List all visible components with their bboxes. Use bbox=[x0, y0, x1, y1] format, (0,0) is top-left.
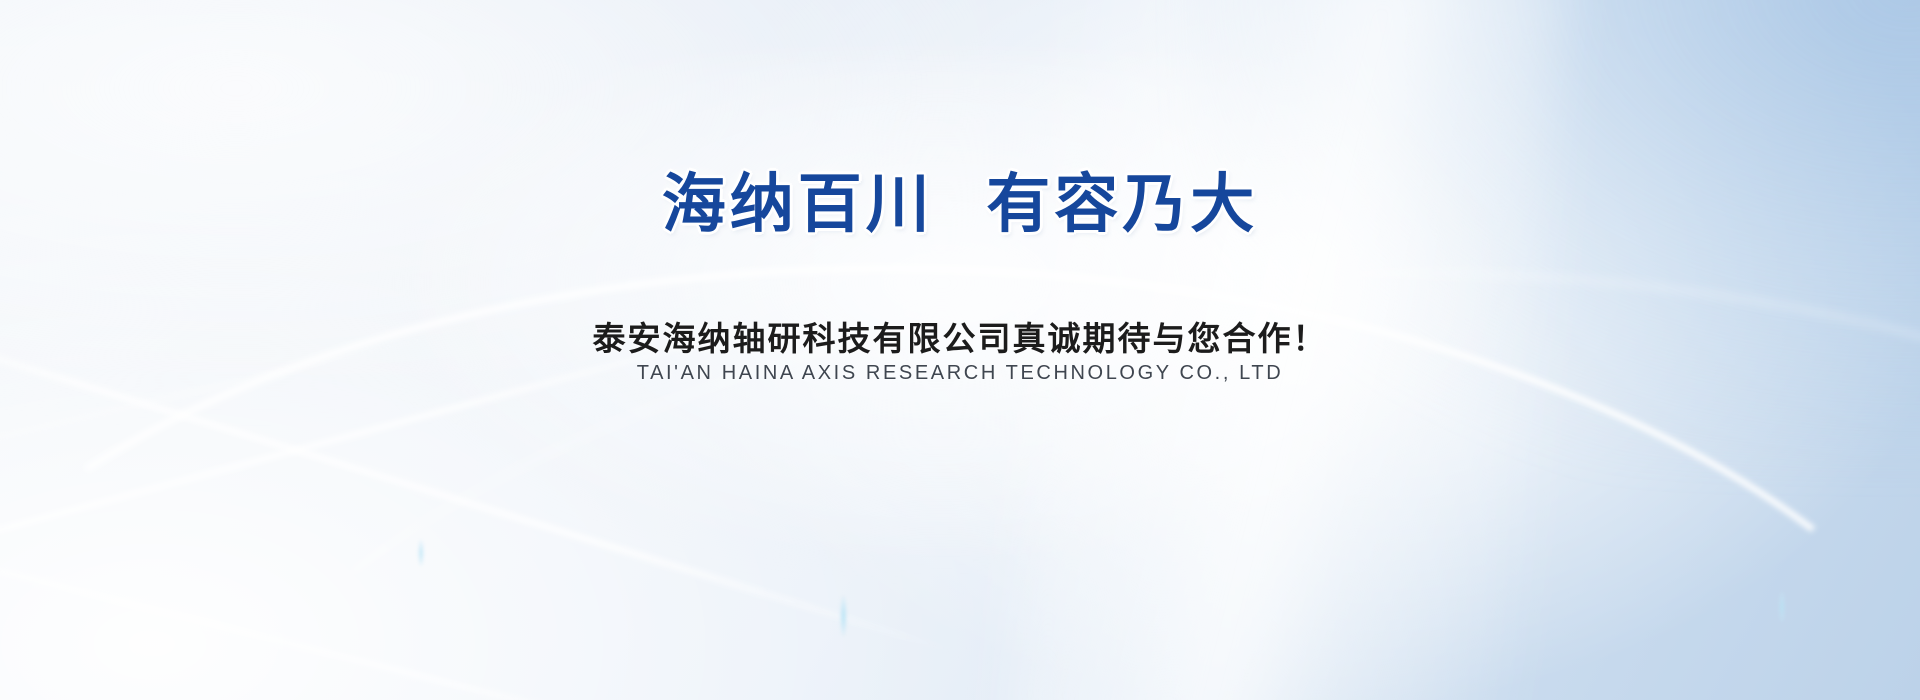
banner-subtitle-english: TAI'AN HAINA AXIS RESEARCH TECHNOLOGY CO… bbox=[0, 362, 1920, 385]
banner-content: 海纳百川 有容乃大 泰安海纳轴研科技有限公司真诚期待与您合作！ TAI'AN H… bbox=[0, 0, 1920, 700]
hero-banner: 海纳百川 有容乃大 泰安海纳轴研科技有限公司真诚期待与您合作！ TAI'AN H… bbox=[0, 0, 1920, 700]
banner-headline: 海纳百川 有容乃大 bbox=[0, 168, 1920, 244]
banner-subtitle-chinese: 泰安海纳轴研科技有限公司真诚期待与您合作！ bbox=[0, 312, 1920, 360]
